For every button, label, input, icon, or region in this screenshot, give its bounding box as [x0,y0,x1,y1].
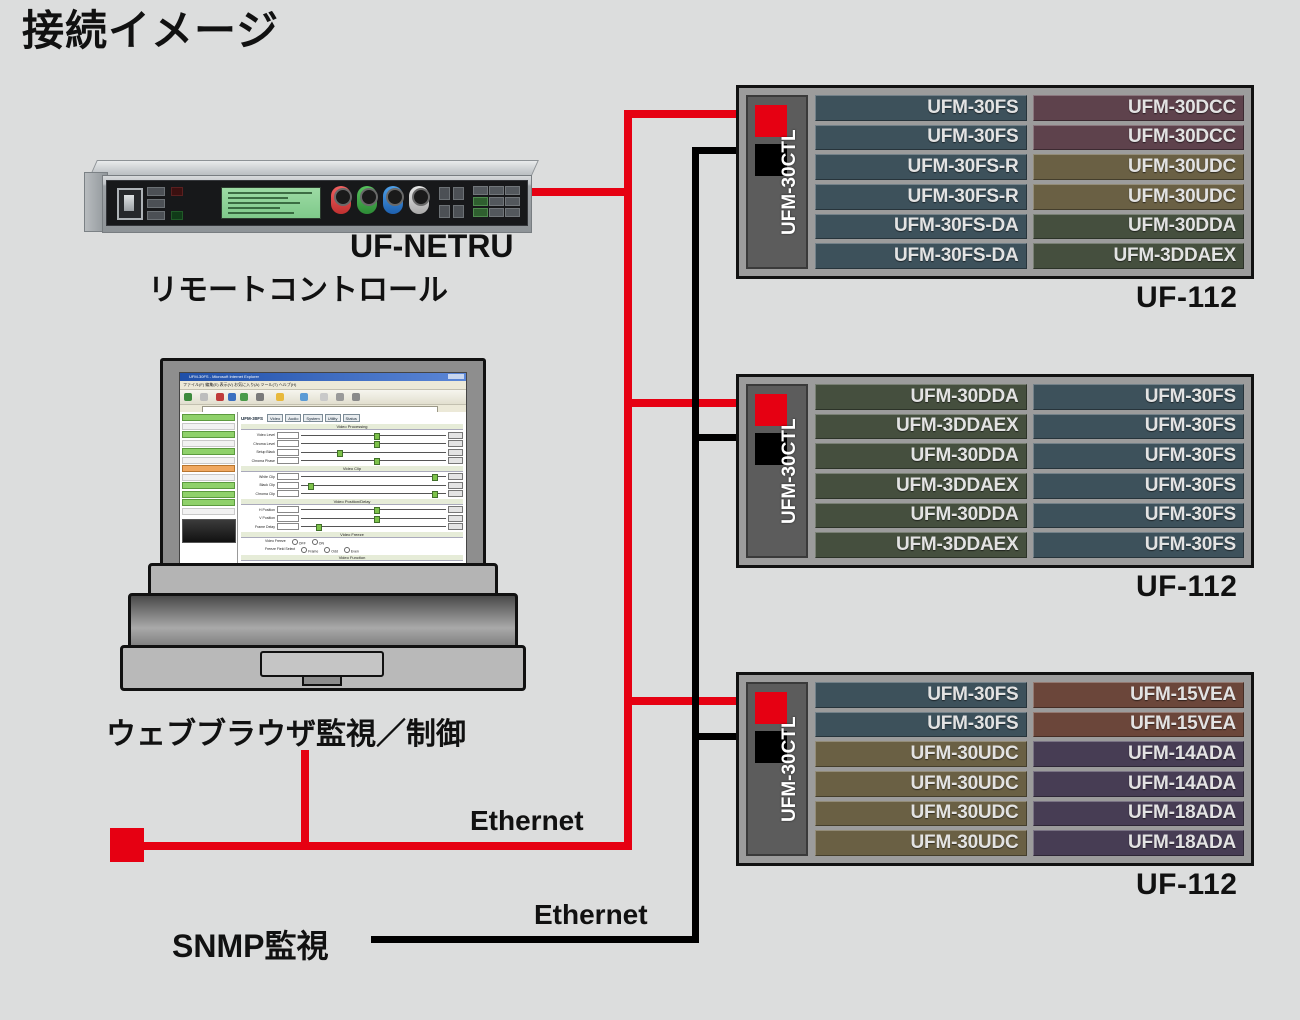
rack-uf112-1: UFM-30CTL UFM-30FS UFM-30DCC UFM-30FS UF… [736,85,1254,279]
rack-slot[interactable]: UFM-30FS [1033,384,1245,410]
setting-label: Black Clip [241,483,275,487]
rack-slot[interactable]: UFM-30FS [815,682,1027,708]
home-icon[interactable] [240,393,248,401]
ctl-module-3[interactable]: UFM-30CTL [746,682,808,856]
setting-slider[interactable] [301,491,446,496]
netru-menu-button-3[interactable] [147,211,165,220]
refresh-icon[interactable] [228,393,236,401]
rack-uf112-2: UFM-30CTL UFM-30DDA UFM-30FS UFM-3DDAEX … [736,374,1254,568]
netru-front-panel [106,180,528,226]
red-cable-trunk-vertical [624,110,632,850]
netru-model-label: UF-NETRU [350,228,514,265]
tab-system[interactable]: System [303,414,322,422]
apply-button[interactable] [448,515,463,522]
green-knob[interactable] [357,186,377,214]
section-header: Video Processing [241,424,463,430]
setting-slider[interactable] [301,516,446,521]
rack-slot[interactable]: UFM-30UDC [815,741,1027,767]
rack-slot[interactable]: UFM-30FS-R [815,154,1027,180]
rack-uf112-3: UFM-30CTL UFM-30FS UFM-15VEA UFM-30FS UF… [736,672,1254,866]
mail-icon[interactable] [320,393,328,401]
apply-button[interactable] [448,457,463,464]
rack-slot[interactable]: UFM-18ADA [1033,801,1245,827]
module-list-item[interactable] [182,431,235,438]
rack-caption-1: UF-112 [1136,281,1237,315]
apply-button[interactable] [448,490,463,497]
apply-button[interactable] [448,440,463,447]
rack-slot[interactable]: UFM-30DDA [815,384,1027,410]
setting-value-field[interactable] [277,523,299,530]
page-title: 接続イメージ [22,8,279,54]
module-list-item[interactable] [182,448,235,455]
netru-keypad-key[interactable] [489,197,504,206]
rack-slot[interactable]: UFM-30DDA [815,443,1027,469]
netru-keypad-key[interactable] [489,208,504,217]
device-photo [182,519,236,543]
netru-keypad-key[interactable] [505,208,520,217]
setting-slider[interactable] [301,458,446,463]
blue-knob[interactable] [383,186,403,214]
ctl-module-label: UFM-30CTL [775,684,805,854]
snmp-label: SNMP監視 [172,921,328,967]
netru-sel-button-1[interactable] [439,187,450,200]
rack-slot[interactable]: UFM-15VEA [1033,682,1245,708]
favorites-icon[interactable] [276,393,284,401]
ethernet-label-black: Ethernet [534,899,648,931]
rack-slot[interactable]: UFM-30UDC [815,830,1027,856]
browser-content: UFM-30FS Video Audio System Utility Stat… [180,412,466,563]
radio-option[interactable]: Even [344,547,359,554]
setting-row: Black Clip [241,482,463,489]
setting-row: Chroma Phase [241,457,463,464]
rack-slot[interactable]: UFM-30DCC [1033,125,1245,151]
apply-button[interactable] [448,482,463,489]
rack-slot[interactable]: UFM-30FS-DA [815,214,1027,240]
module-list-item[interactable] [182,482,235,489]
history-icon[interactable] [300,393,308,401]
laptop-touchpad[interactable] [260,651,384,677]
back-icon[interactable] [184,393,192,401]
netru-led-2 [171,211,183,220]
setting-slider[interactable] [301,507,446,512]
rack-slot[interactable]: UFM-30UDC [1033,154,1245,180]
stop-icon[interactable] [216,393,224,401]
diagram-canvas: 接続イメージ Ethernet Ethernet SNMP監視 [0,0,1300,1020]
module-list-item-selected[interactable] [182,465,235,472]
netru-sel-button-2[interactable] [439,205,450,218]
radio-group-label: Freeze Field Select [265,547,295,554]
setting-value-field[interactable] [277,440,299,447]
setting-label: Chroma Level [241,442,275,446]
module-settings-panel: UFM-30FS Video Audio System Utility Stat… [238,412,466,563]
netru-led-1 [171,187,183,196]
red-knob[interactable] [331,186,351,214]
module-list-item[interactable] [182,499,235,506]
apply-button[interactable] [448,506,463,513]
ctl-module-label: UFM-30CTL [775,97,805,267]
rack-slot[interactable]: UFM-30DDA [1033,214,1245,240]
netru-sel-button-4[interactable] [453,205,464,218]
setting-row: V Position [241,515,463,522]
netru-keypad-key[interactable] [473,208,488,217]
rack-slot[interactable]: UFM-30FS [815,125,1027,151]
ethernet-label-red: Ethernet [470,805,584,837]
setting-row: H Position [241,506,463,513]
rack-slot[interactable]: UFM-18ADA [1033,830,1245,856]
laptop-screen: UFM-30FS - Microsoft Internet Explorer フ… [179,372,467,564]
rack-slot[interactable]: UFM-15VEA [1033,712,1245,738]
module-list-item[interactable] [182,440,235,447]
edit-icon[interactable] [352,393,360,401]
rack-slot[interactable]: UFM-3DDAEX [815,473,1027,499]
radio-option[interactable]: Frame [301,547,318,554]
module-list-item[interactable] [182,414,235,421]
netru-lcd-display [221,187,321,219]
ctl-module-1[interactable]: UFM-30CTL [746,95,808,269]
setting-slider[interactable] [301,524,446,529]
rack-slot[interactable]: UFM-30UDC [815,771,1027,797]
netru-jp-label: リモートコントロール [148,265,448,309]
rack-slot[interactable]: UFM-30FS-DA [815,243,1027,269]
rack-slot[interactable]: UFM-30FS [1033,503,1245,529]
ctl-module-label: UFM-30CTL [775,386,805,556]
settings-device-name: UFM-30FS [241,416,263,421]
rack-slot[interactable]: UFM-30UDC [815,801,1027,827]
rack-slot[interactable]: UFM-30FS [815,95,1027,121]
rack-slot[interactable]: UFM-30DCC [1033,95,1245,121]
rack-slot[interactable]: UFM-3DDAEX [1033,243,1245,269]
setting-label: White Clip [241,475,275,479]
module-list-item[interactable] [182,457,235,464]
setting-row: White Clip [241,473,463,480]
section-header: Video Position/Delay [241,499,463,505]
netru-keypad-key[interactable] [505,197,520,206]
setting-label: Chroma Phase [241,459,275,463]
rack-slot[interactable]: UFM-14ADA [1033,771,1245,797]
radio-option[interactable]: Odd [324,547,338,554]
setting-value-field[interactable] [277,506,299,513]
setting-slider[interactable] [301,450,446,455]
netru-menu-button-2[interactable] [147,199,165,208]
setting-slider[interactable] [301,433,446,438]
netru-keypad-key[interactable] [473,186,488,195]
rack-slot[interactable]: UFM-30FS [815,712,1027,738]
rack-slot[interactable]: UFM-30UDC [1033,184,1245,210]
red-cable-bottom-run [130,842,632,850]
setting-row: Chroma Level [241,440,463,447]
rack-slot[interactable]: UFM-14ADA [1033,741,1245,767]
setting-row: Frame Delay [241,523,463,530]
rack-slot[interactable]: UFM-30FS-R [815,184,1027,210]
radio-row: Video Freeze OFF ON [241,539,463,546]
setting-label: Setup Black [241,450,275,454]
uf-netru-device [84,160,532,236]
rack-slot[interactable]: UFM-30FS [1033,473,1245,499]
setting-slider[interactable] [301,483,446,488]
setting-value-field[interactable] [277,432,299,439]
radio-row: Freeze Field Select Frame Odd Even [241,547,463,554]
setting-label: Frame Delay [241,525,275,529]
laptop-base [120,563,520,688]
browser-titlebar: UFM-30FS - Microsoft Internet Explorer [180,373,466,381]
setting-value-field[interactable] [277,490,299,497]
rack-slot[interactable]: UFM-3DDAEX [815,414,1027,440]
module-list-item[interactable] [182,423,235,430]
rack-slots-3: UFM-30FS UFM-15VEA UFM-30FS UFM-15VEA UF… [815,682,1244,856]
netru-keypad-key[interactable] [489,186,504,195]
setting-row: Chroma Clip [241,490,463,497]
browser-menubar[interactable]: ファイル(F) 編集(E) 表示(V) お気に入り(A) ツール(T) ヘルプ(… [180,381,466,390]
module-list-panel[interactable] [180,412,238,563]
tab-status[interactable]: Status [343,414,360,422]
apply-button[interactable] [448,449,463,456]
settings-tabbar: UFM-30FS Video Audio System Utility Stat… [241,414,463,422]
window-controls[interactable] [448,374,464,379]
module-list-item[interactable] [182,491,235,498]
white-knob[interactable] [409,186,429,214]
browser-title-text: UFM-30FS - Microsoft Internet Explorer [189,374,259,379]
setting-value-field[interactable] [277,473,299,480]
laptop-device: UFM-30FS - Microsoft Internet Explorer フ… [120,358,520,688]
power-switch-icon[interactable] [117,188,143,220]
black-cable-trunk-vertical [692,147,699,943]
setting-label: Video Level [241,433,275,437]
netru-keypad-key[interactable] [473,197,488,206]
rack-caption-3: UF-112 [1136,868,1237,902]
rack-slots-2: UFM-30DDA UFM-30FS UFM-3DDAEX UFM-30FS U… [815,384,1244,558]
tab-audio[interactable]: Audio [285,414,301,422]
laptop-lid: UFM-30FS - Microsoft Internet Explorer フ… [160,358,486,582]
browser-toolbar[interactable] [180,390,466,405]
apply-button[interactable] [448,432,463,439]
setting-label: Chroma Clip [241,492,275,496]
rack-slot[interactable]: UFM-30DDA [815,503,1027,529]
tab-video[interactable]: Video [267,414,283,422]
netru-menu-button-1[interactable] [147,187,165,196]
module-list-item[interactable] [182,474,235,481]
section-header: Video Function [241,555,463,561]
setting-row: Video Level [241,432,463,439]
radio-group-label: Video Freeze [265,539,286,546]
section-header: Video Clip [241,466,463,472]
rack-slots-1: UFM-30FS UFM-30DCC UFM-30FS UFM-30DCC UF… [815,95,1244,269]
laptop-latch[interactable] [302,675,342,686]
radio-option[interactable]: ON [312,539,324,546]
setting-value-field[interactable] [277,449,299,456]
red-cable-terminator [110,828,144,862]
radio-option[interactable]: OFF [292,539,306,546]
setting-value-field[interactable] [277,515,299,522]
laptop-jp-label: ウェブブラウザ監視／制御 [106,709,466,753]
rack-slot[interactable]: UFM-30FS [1033,414,1245,440]
setting-value-field[interactable] [277,482,299,489]
apply-button[interactable] [448,523,463,530]
setting-label: H Position [241,508,275,512]
setting-label: V Position [241,516,275,520]
rack-slot[interactable]: UFM-30FS [1033,532,1245,558]
setting-slider[interactable] [301,474,446,479]
rack-slot[interactable]: UFM-3DDAEX [815,532,1027,558]
setting-value-field[interactable] [277,457,299,464]
netru-sel-button-3[interactable] [453,187,464,200]
rack-slot[interactable]: UFM-30FS [1033,443,1245,469]
module-list-item[interactable] [182,508,235,515]
rack-caption-2: UF-112 [1136,570,1237,604]
section-header: Video Freeze [241,532,463,538]
black-cable-snmp-run [371,936,699,943]
ctl-module-2[interactable]: UFM-30CTL [746,384,808,558]
forward-icon[interactable] [200,393,208,401]
print-icon[interactable] [336,393,344,401]
setting-slider[interactable] [301,441,446,446]
apply-button[interactable] [448,473,463,480]
red-cable-laptop-stub [301,750,309,846]
search-icon[interactable] [256,393,264,401]
tab-utility[interactable]: Utility [325,414,341,422]
setting-row: Setup Black [241,449,463,456]
netru-keypad-key[interactable] [505,186,520,195]
